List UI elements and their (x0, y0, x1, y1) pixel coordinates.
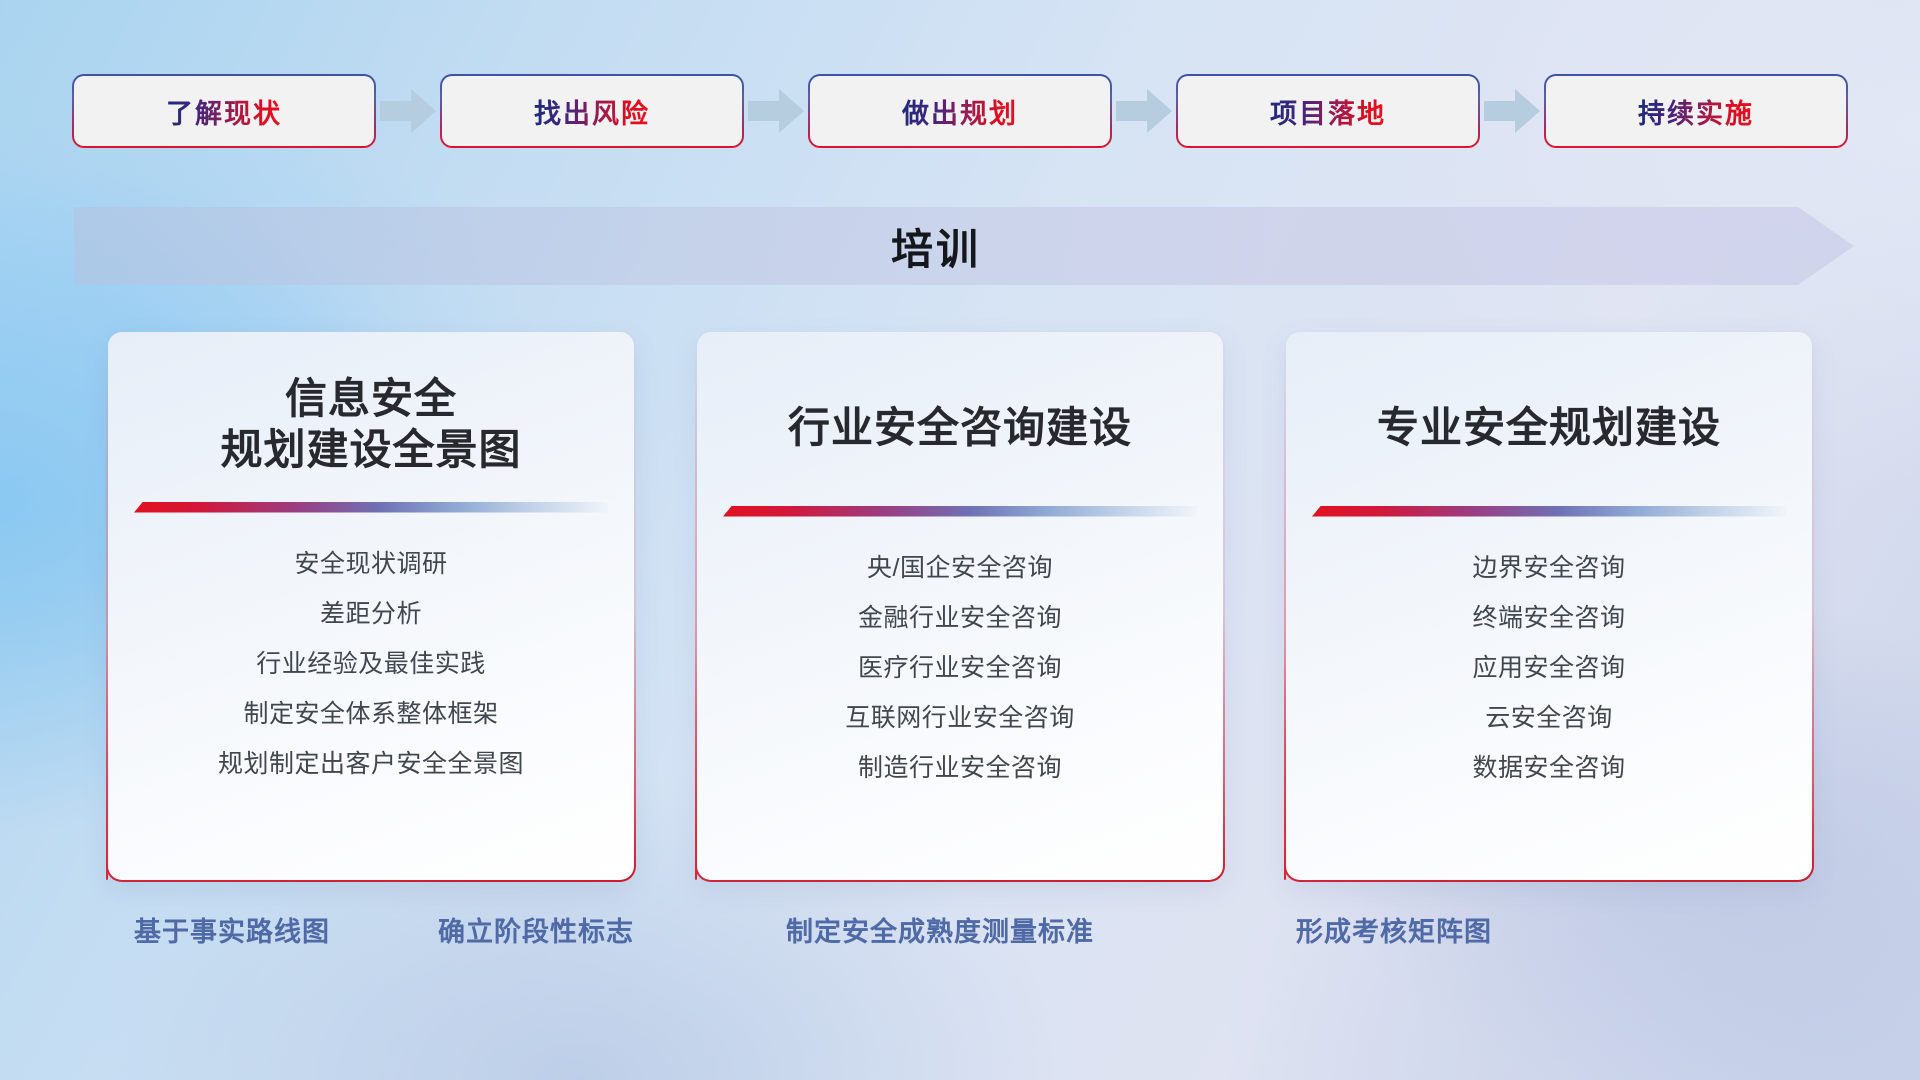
card-title-0: 信息安全 规划建设全景图 (220, 372, 521, 476)
list-item: 边界安全咨询 (1472, 548, 1625, 588)
step-box-2[interactable]: 做出规划 (810, 76, 1110, 146)
gradient-rule-icon (134, 502, 608, 513)
card-title-2: 专业安全规划建设 (1377, 376, 1721, 480)
list-item: 规划制定出客户安全全景图 (218, 744, 524, 784)
step-box-0[interactable]: 了解现状 (74, 76, 374, 146)
step-arrow-icon-3 (1478, 88, 1546, 134)
step-label-2: 做出规划 (902, 92, 1018, 131)
list-item: 应用安全咨询 (1472, 648, 1625, 688)
list-item: 金融行业安全咨询 (858, 598, 1062, 638)
list-item: 制造行业安全咨询 (858, 748, 1062, 788)
gradient-rule-icon (1312, 506, 1786, 517)
card-0[interactable]: 信息安全 规划建设全景图 安全现状调研 差距分析 行业经验及最佳实践 制定安全体… (108, 332, 634, 880)
card-title-line: 行业安全咨询建设 (788, 402, 1132, 453)
list-item: 差距分析 (320, 594, 422, 634)
step-label-4: 持续实施 (1638, 92, 1754, 131)
card-title-1: 行业安全咨询建设 (788, 376, 1132, 480)
step-arrow-icon-1 (742, 88, 810, 134)
list-item: 制定安全体系整体框架 (243, 694, 498, 734)
list-item: 数据安全咨询 (1472, 748, 1625, 788)
card-list-0: 安全现状调研 差距分析 行业经验及最佳实践 制定安全体系整体框架 规划制定出客户… (134, 544, 608, 784)
step-label-1: 找出风险 (534, 92, 650, 131)
list-item: 云安全咨询 (1485, 698, 1613, 738)
step-label-3: 项目落地 (1270, 92, 1386, 131)
card-group: 信息安全 规划建设全景图 安全现状调研 差距分析 行业经验及最佳实践 制定安全体… (108, 332, 1812, 880)
step-box-4[interactable]: 持续实施 (1546, 76, 1846, 146)
process-step-flow: 了解现状 找出风险 做出规划 项目落地 (74, 76, 1846, 146)
card-list-2: 边界安全咨询 终端安全咨询 应用安全咨询 云安全咨询 数据安全咨询 (1312, 548, 1786, 788)
card-list-1: 央/国企安全咨询 金融行业安全咨询 医疗行业安全咨询 互联网行业安全咨询 制造行… (723, 548, 1197, 788)
gradient-rule-icon (723, 506, 1197, 517)
list-item: 终端安全咨询 (1472, 598, 1625, 638)
card-divider-2 (1312, 498, 1786, 524)
card-1[interactable]: 行业安全咨询建设 央/国企安全咨询 金融行业安全咨询 医疗行业安全咨询 互联网行… (697, 332, 1223, 880)
footnote-0: 基于事实路线图 (134, 910, 330, 949)
list-item: 央/国企安全咨询 (867, 548, 1053, 588)
card-divider-1 (723, 498, 1197, 524)
slide-canvas: 了解现状 找出风险 做出规划 项目落地 (0, 0, 1920, 1080)
footnote-1: 确立阶段性标志 (438, 910, 634, 949)
step-box-3[interactable]: 项目落地 (1178, 76, 1478, 146)
footnote-2: 制定安全成熟度测量标准 (786, 910, 1094, 949)
card-title-line: 专业安全规划建设 (1377, 402, 1721, 453)
card-title-line: 规划建设全景图 (220, 424, 521, 475)
training-banner: 培训 (74, 207, 1854, 285)
list-item: 安全现状调研 (294, 544, 447, 584)
card-2[interactable]: 专业安全规划建设 边界安全咨询 终端安全咨询 应用安全咨询 云安全咨询 数据安全… (1286, 332, 1812, 880)
list-item: 行业经验及最佳实践 (256, 644, 486, 684)
footnote-3: 形成考核矩阵图 (1296, 910, 1492, 949)
step-arrow-icon-2 (1110, 88, 1178, 134)
step-arrow-icon-0 (374, 88, 442, 134)
step-box-1[interactable]: 找出风险 (442, 76, 742, 146)
list-item: 互联网行业安全咨询 (845, 698, 1075, 738)
card-divider-0 (134, 494, 608, 520)
banner-title: 培训 (74, 207, 1854, 285)
list-item: 医疗行业安全咨询 (858, 648, 1062, 688)
card-title-line: 信息安全 (220, 373, 521, 424)
footnote-row: 基于事实路线图 确立阶段性标志 制定安全成熟度测量标准 形成考核矩阵图 (108, 910, 1812, 958)
step-label-0: 了解现状 (166, 92, 282, 131)
